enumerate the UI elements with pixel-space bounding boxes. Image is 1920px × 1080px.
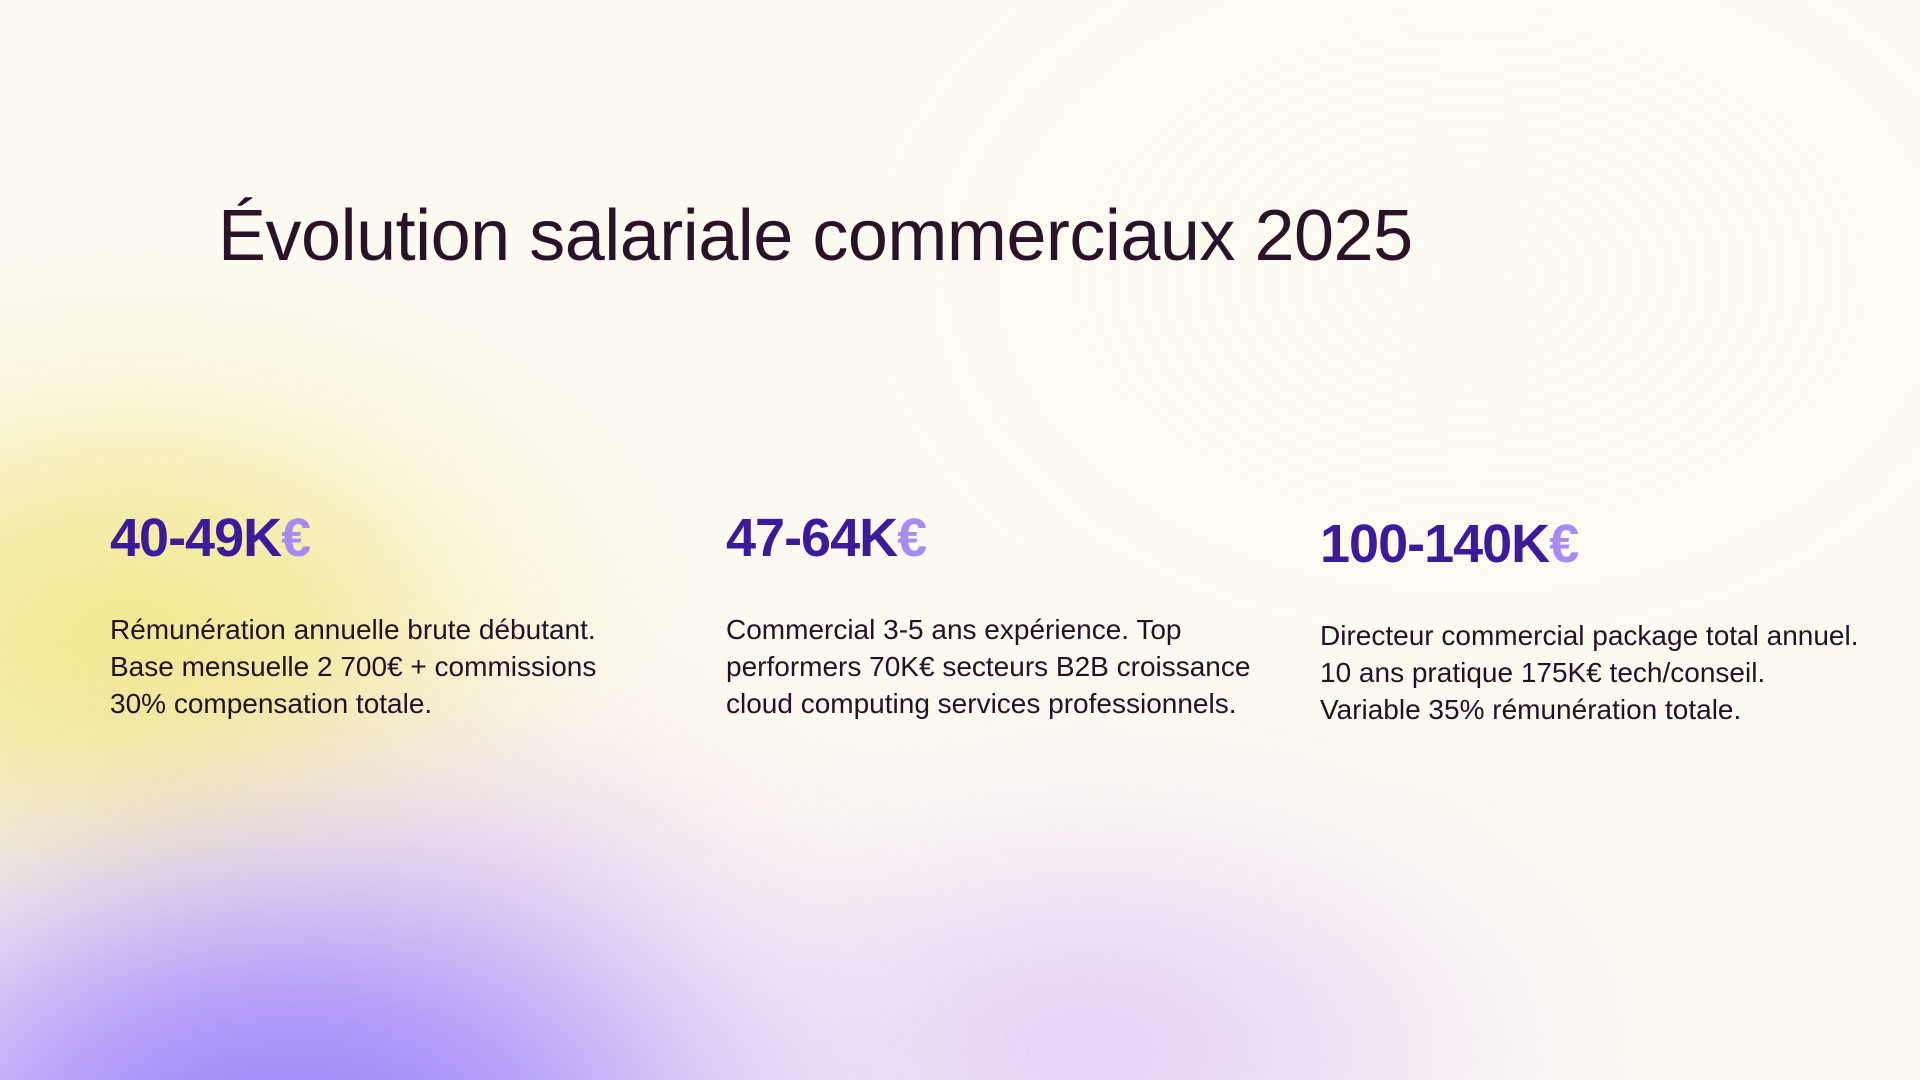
stat-value-1: 40-49K€ <box>110 510 630 567</box>
stat-value-3-number: 100-140K <box>1320 514 1549 574</box>
stat-value-1-currency: € <box>281 508 310 568</box>
stat-column-3: 100-140K€ Directeur commercial package t… <box>1320 516 1860 728</box>
stat-description-1: Rémunération annuelle brute débutant. Ba… <box>110 611 630 723</box>
stat-value-3: 100-140K€ <box>1320 516 1860 573</box>
stat-value-2-currency: € <box>897 508 926 568</box>
stat-value-2-number: 47-64K <box>726 508 897 568</box>
stat-value-1-number: 40-49K <box>110 508 281 568</box>
stat-column-1: 40-49K€ Rémunération annuelle brute débu… <box>110 510 630 722</box>
stat-value-3-currency: € <box>1549 514 1578 574</box>
stat-column-2: 47-64K€ Commercial 3-5 ans expérience. T… <box>726 510 1266 722</box>
stat-description-3: Directeur commercial package total annue… <box>1320 617 1860 729</box>
stat-value-2: 47-64K€ <box>726 510 1266 567</box>
stat-description-2: Commercial 3-5 ans expérience. Top perfo… <box>726 611 1266 723</box>
slide-content: Évolution salariale commerciaux 2025 40-… <box>0 0 1920 1080</box>
page-title: Évolution salariale commerciaux 2025 <box>218 198 1778 276</box>
slide-canvas: Évolution salariale commerciaux 2025 40-… <box>0 0 1920 1080</box>
